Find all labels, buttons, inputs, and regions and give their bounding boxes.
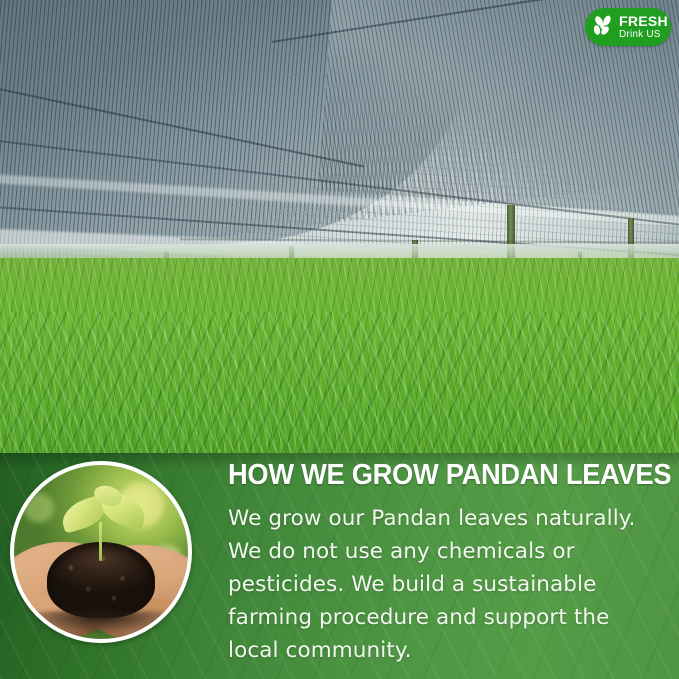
fresh-drink-us-logo[interactable]: FRESH Drink US — [585, 8, 671, 46]
product-infographic-image: FRESH Drink US HOW WE GROW PANDAN LEAVES… — [0, 0, 679, 679]
body-line: We do not use any chemicals or — [228, 535, 675, 568]
bokeh-light — [24, 493, 54, 523]
soil-ground — [24, 611, 177, 642]
panel-headline: HOW WE GROW PANDAN LEAVES — [228, 461, 645, 490]
panel-body-text: We grow our Pandan leaves naturally. We … — [228, 502, 675, 667]
body-line: pesticides. We build a sustainable — [228, 568, 675, 601]
logo-line-fresh: FRESH — [619, 14, 668, 28]
logo-wordmark: FRESH Drink US — [619, 14, 668, 40]
body-line: We grow our Pandan leaves naturally. — [228, 502, 675, 535]
body-line: farming procedure and support the — [228, 601, 675, 634]
seedling-stem — [99, 522, 102, 560]
logo-line-drink-us: Drink US — [619, 30, 668, 40]
leaf-cluster-icon — [591, 14, 615, 40]
body-line: local community. — [228, 634, 675, 667]
hands-holding-seedling-photo — [10, 461, 192, 643]
